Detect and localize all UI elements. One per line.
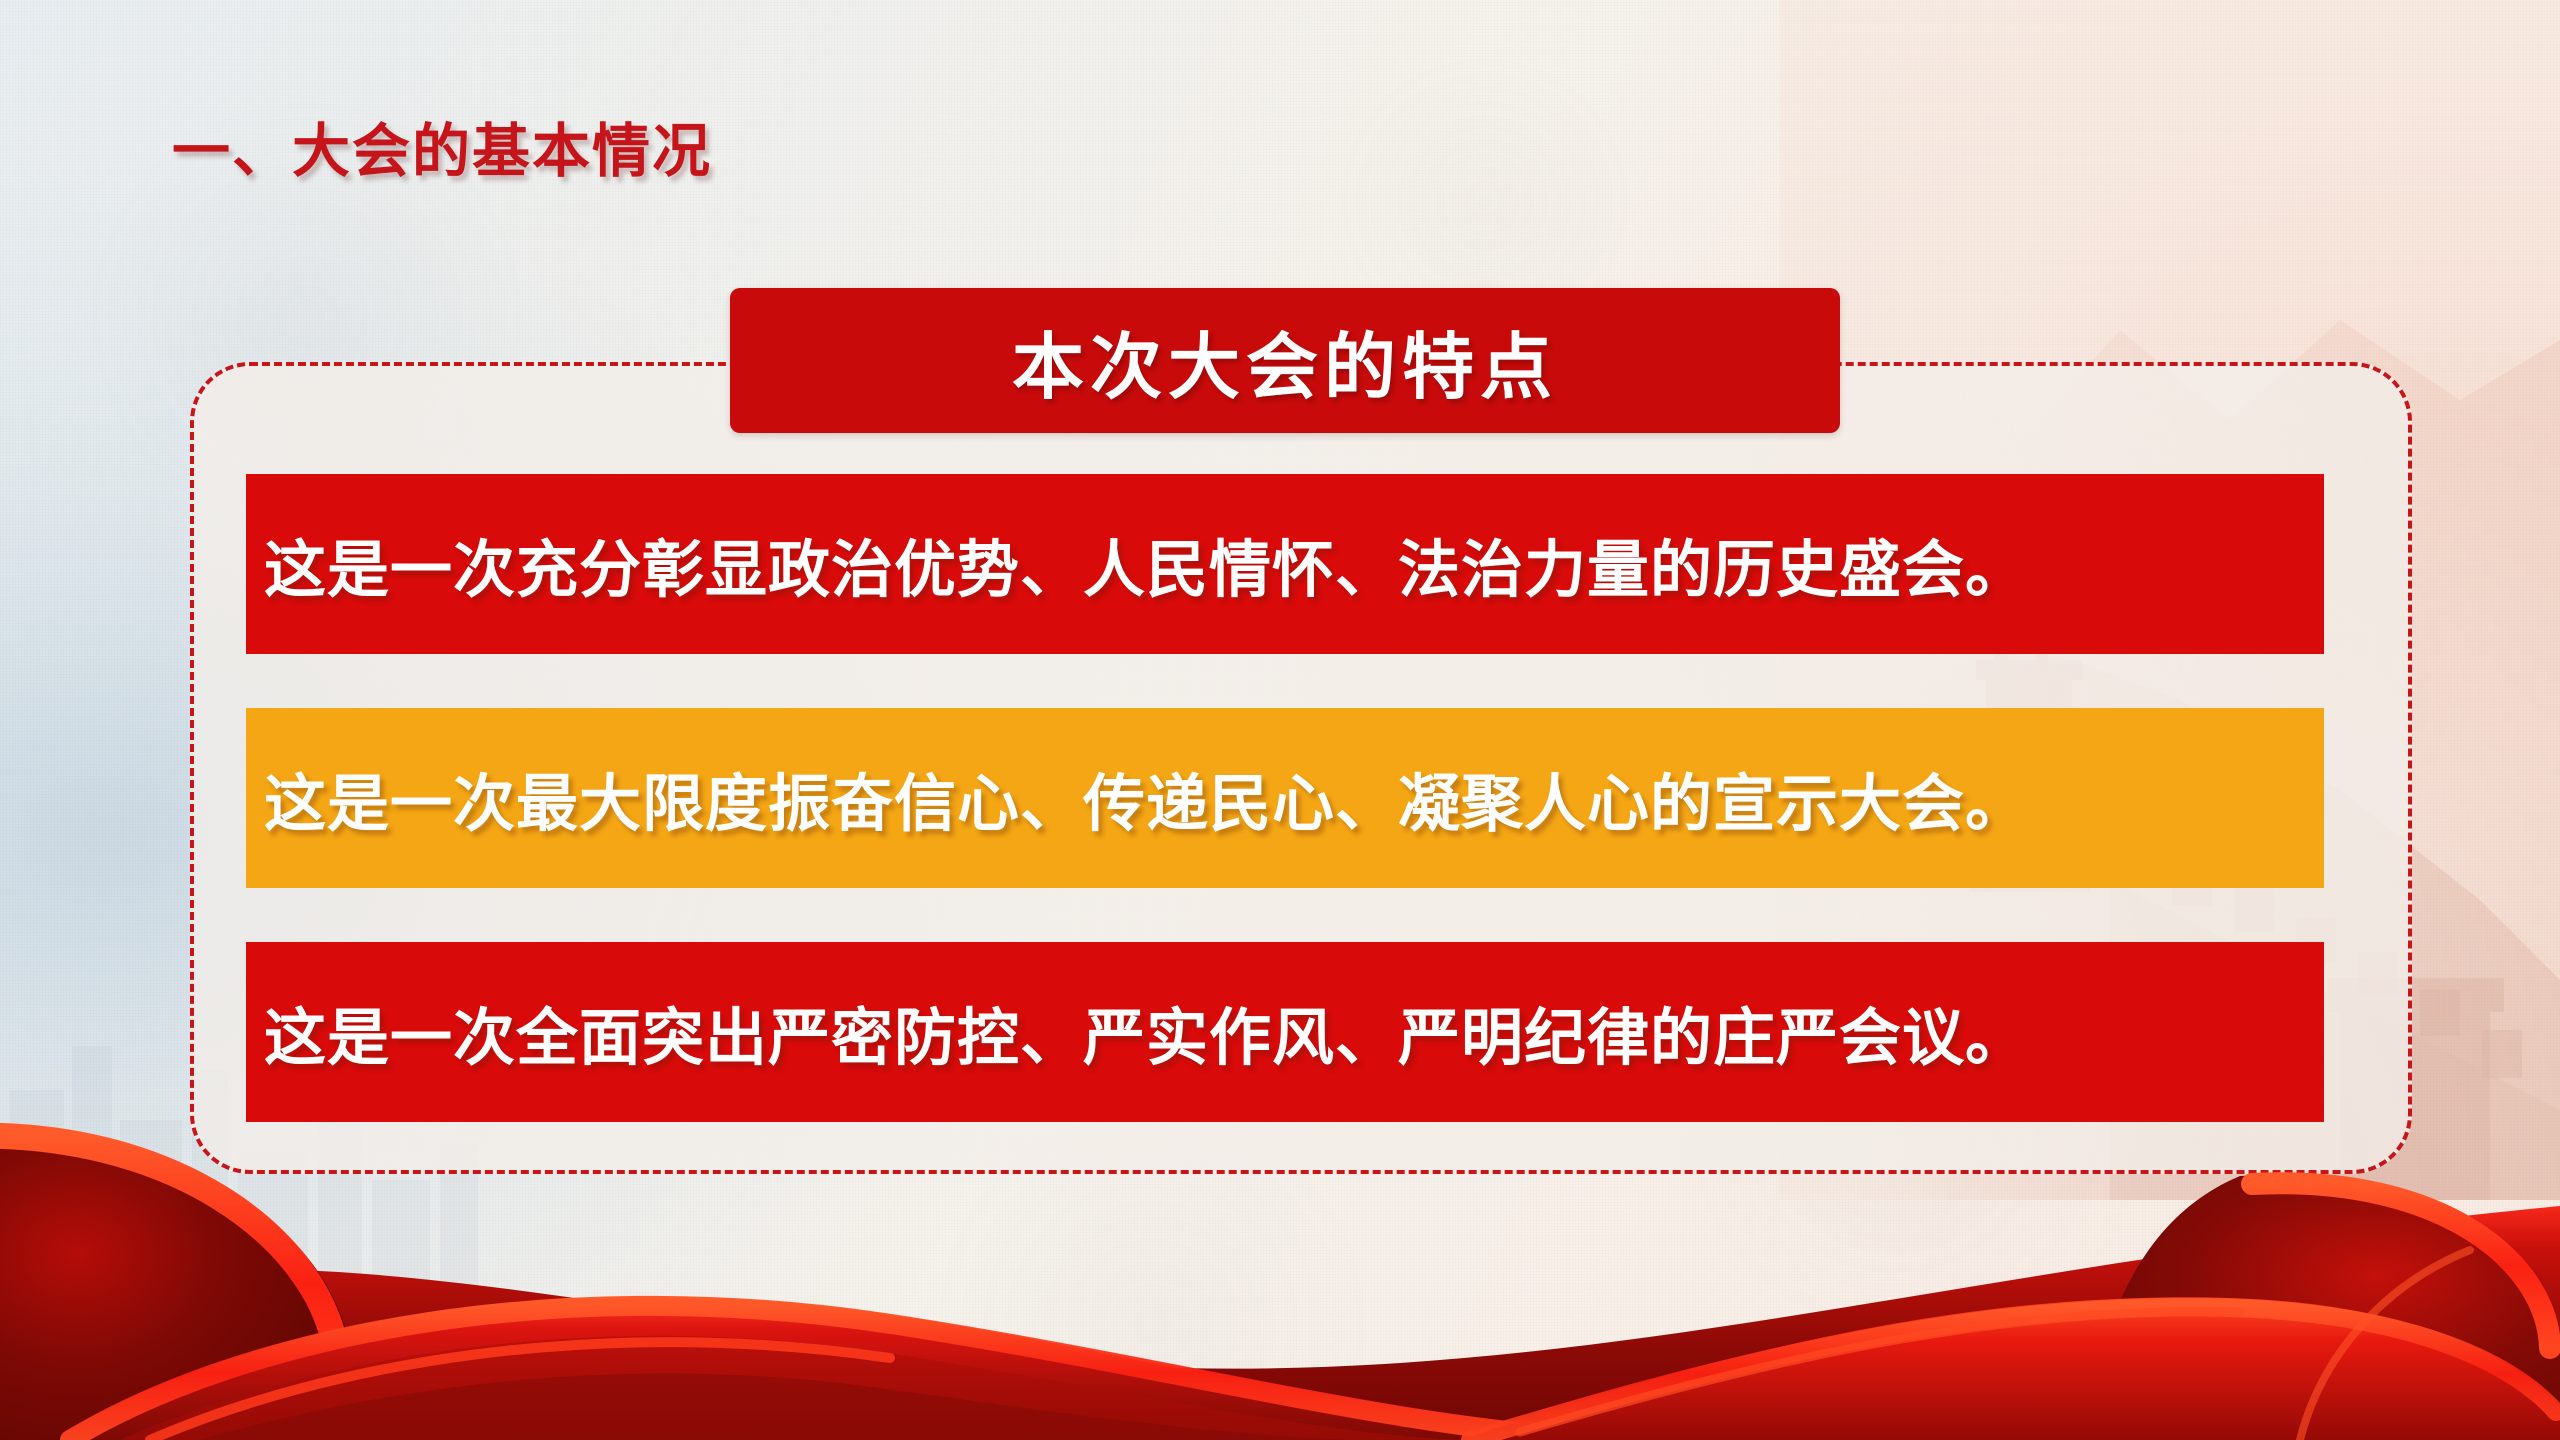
point-bar-2-text: 这是一次最大限度振奋信心、传递民心、凝聚人心的宣示大会。 (264, 753, 2028, 843)
title-banner-label: 本次大会的特点 (1012, 308, 1558, 413)
point-bar-2: 这是一次最大限度振奋信心、传递民心、凝聚人心的宣示大会。 (246, 708, 2324, 888)
section-heading: 一、大会的基本情况 (172, 104, 712, 188)
point-bar-1-text: 这是一次充分彰显政治优势、人民情怀、法治力量的历史盛会。 (264, 519, 2028, 609)
slide-canvas: 一、大会的基本情况 本次大会的特点 这是一次充分彰显政治优势、人民情怀、法治力量… (0, 0, 2560, 1440)
points-list: 这是一次充分彰显政治优势、人民情怀、法治力量的历史盛会。 这是一次最大限度振奋信… (246, 474, 2324, 1122)
title-banner: 本次大会的特点 (730, 288, 1840, 433)
point-bar-1: 这是一次充分彰显政治优势、人民情怀、法治力量的历史盛会。 (246, 474, 2324, 654)
point-bar-3-text: 这是一次全面突出严密防控、严实作风、严明纪律的庄严会议。 (264, 987, 2028, 1077)
point-bar-3: 这是一次全面突出严密防控、严实作风、严明纪律的庄严会议。 (246, 942, 2324, 1122)
